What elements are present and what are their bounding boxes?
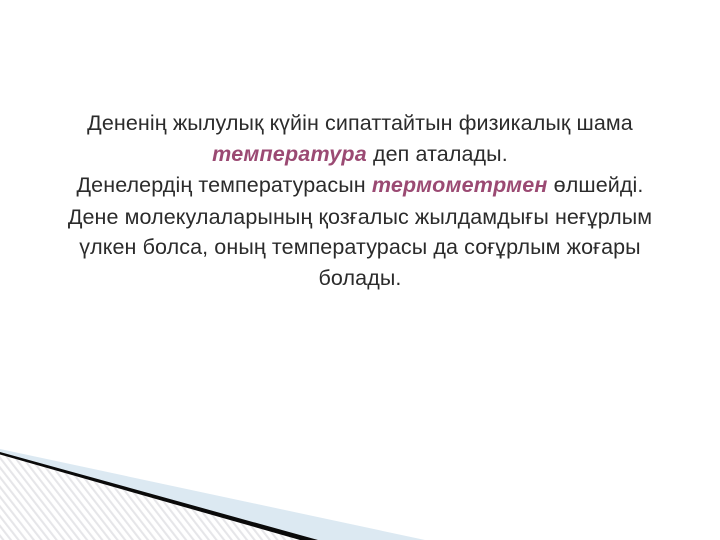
text-run: деп аталады. xyxy=(367,142,508,166)
highlight-term-temperatura: температура xyxy=(212,142,367,166)
text-run: Дене молекулаларының қозғалыс жылдамдығы… xyxy=(68,205,652,290)
paragraph-relationship: Дене молекулаларының қозғалыс жылдамдығы… xyxy=(48,202,672,294)
pale-blue-band xyxy=(0,449,425,540)
black-wedge xyxy=(0,452,318,540)
text-run: Денелердің температурасын xyxy=(77,173,372,197)
text-run: өлшейді. xyxy=(548,173,644,197)
slide-canvas: Дененің жылулық күйін сипаттайтын физика… xyxy=(0,0,720,540)
bottom-left-decoration xyxy=(0,440,460,540)
highlight-term-termometrmen: термометрмен xyxy=(372,173,548,197)
text-run: Дененің жылулық күйін сипаттайтын физика… xyxy=(87,111,633,135)
slide-body-text: Дененің жылулық күйін сипаттайтын физика… xyxy=(48,108,672,293)
paragraph-measurement: Денелердің температурасын термометрмен ө… xyxy=(48,170,672,201)
paragraph-definition: Дененің жылулық күйін сипаттайтын физика… xyxy=(48,108,672,169)
striped-triangle xyxy=(0,440,460,540)
